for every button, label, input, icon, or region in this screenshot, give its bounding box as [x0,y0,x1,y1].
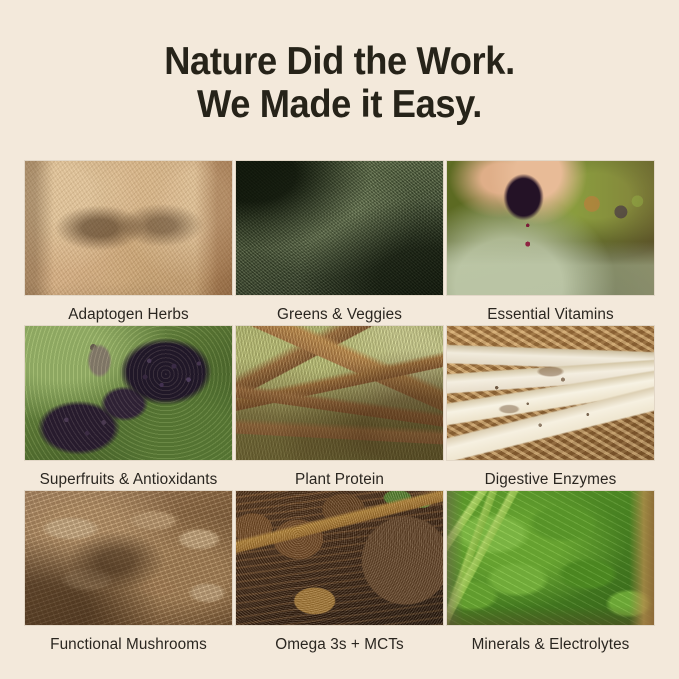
grid-item-superfruits-antioxidants[interactable]: Superfruits & Antioxidants [23,326,234,491]
page-title-line-1: Nature Did the Work. [24,40,655,83]
ingredient-grid: Adaptogen Herbs Greens & Veggies Essenti… [23,161,656,656]
grid-item-label: Superfruits & Antioxidants [25,460,232,489]
grid-item-label: Greens & Veggies [236,295,443,324]
white-roots-in-basket-photo [447,326,654,460]
chia-seeds-and-coconut-photo [236,491,443,625]
grid-item-adaptogen-herbs[interactable]: Adaptogen Herbs [23,161,234,326]
grid-item-essential-vitamins[interactable]: Essential Vitamins [445,161,656,326]
grid-item-minerals-electrolytes[interactable]: Minerals & Electrolytes [445,491,656,656]
ingredient-benefits-infographic: Nature Did the Work. We Made it Easy. Ad… [0,0,679,679]
page-title: Nature Did the Work. We Made it Easy. [24,40,655,126]
grid-item-label: Omega 3s + MCTs [236,625,443,654]
grid-item-label: Minerals & Electrolytes [447,625,654,654]
grid-item-digestive-enzymes[interactable]: Digestive Enzymes [445,326,656,491]
fresh-spinach-leaves-photo [447,491,654,625]
green-powder-photo [236,161,443,295]
page-title-line-2: We Made it Easy. [24,83,655,126]
grid-item-label: Essential Vitamins [447,295,654,324]
grid-item-label: Functional Mushrooms [25,625,232,654]
maca-roots-photo [25,161,232,295]
blackberry-over-glass-photo [447,161,654,295]
amaranth-seed-heads-photo [236,326,443,460]
acai-berry-clusters-photo [25,326,232,460]
grid-item-label: Adaptogen Herbs [25,295,232,324]
grid-item-label: Plant Protein [236,460,443,489]
grid-item-omega-3s-mcts[interactable]: Omega 3s + MCTs [234,491,445,656]
grid-item-plant-protein[interactable]: Plant Protein [234,326,445,491]
grid-item-greens-veggies[interactable]: Greens & Veggies [234,161,445,326]
maitake-mushrooms-photo [25,491,232,625]
grid-item-label: Digestive Enzymes [447,460,654,489]
grid-item-functional-mushrooms[interactable]: Functional Mushrooms [23,491,234,656]
